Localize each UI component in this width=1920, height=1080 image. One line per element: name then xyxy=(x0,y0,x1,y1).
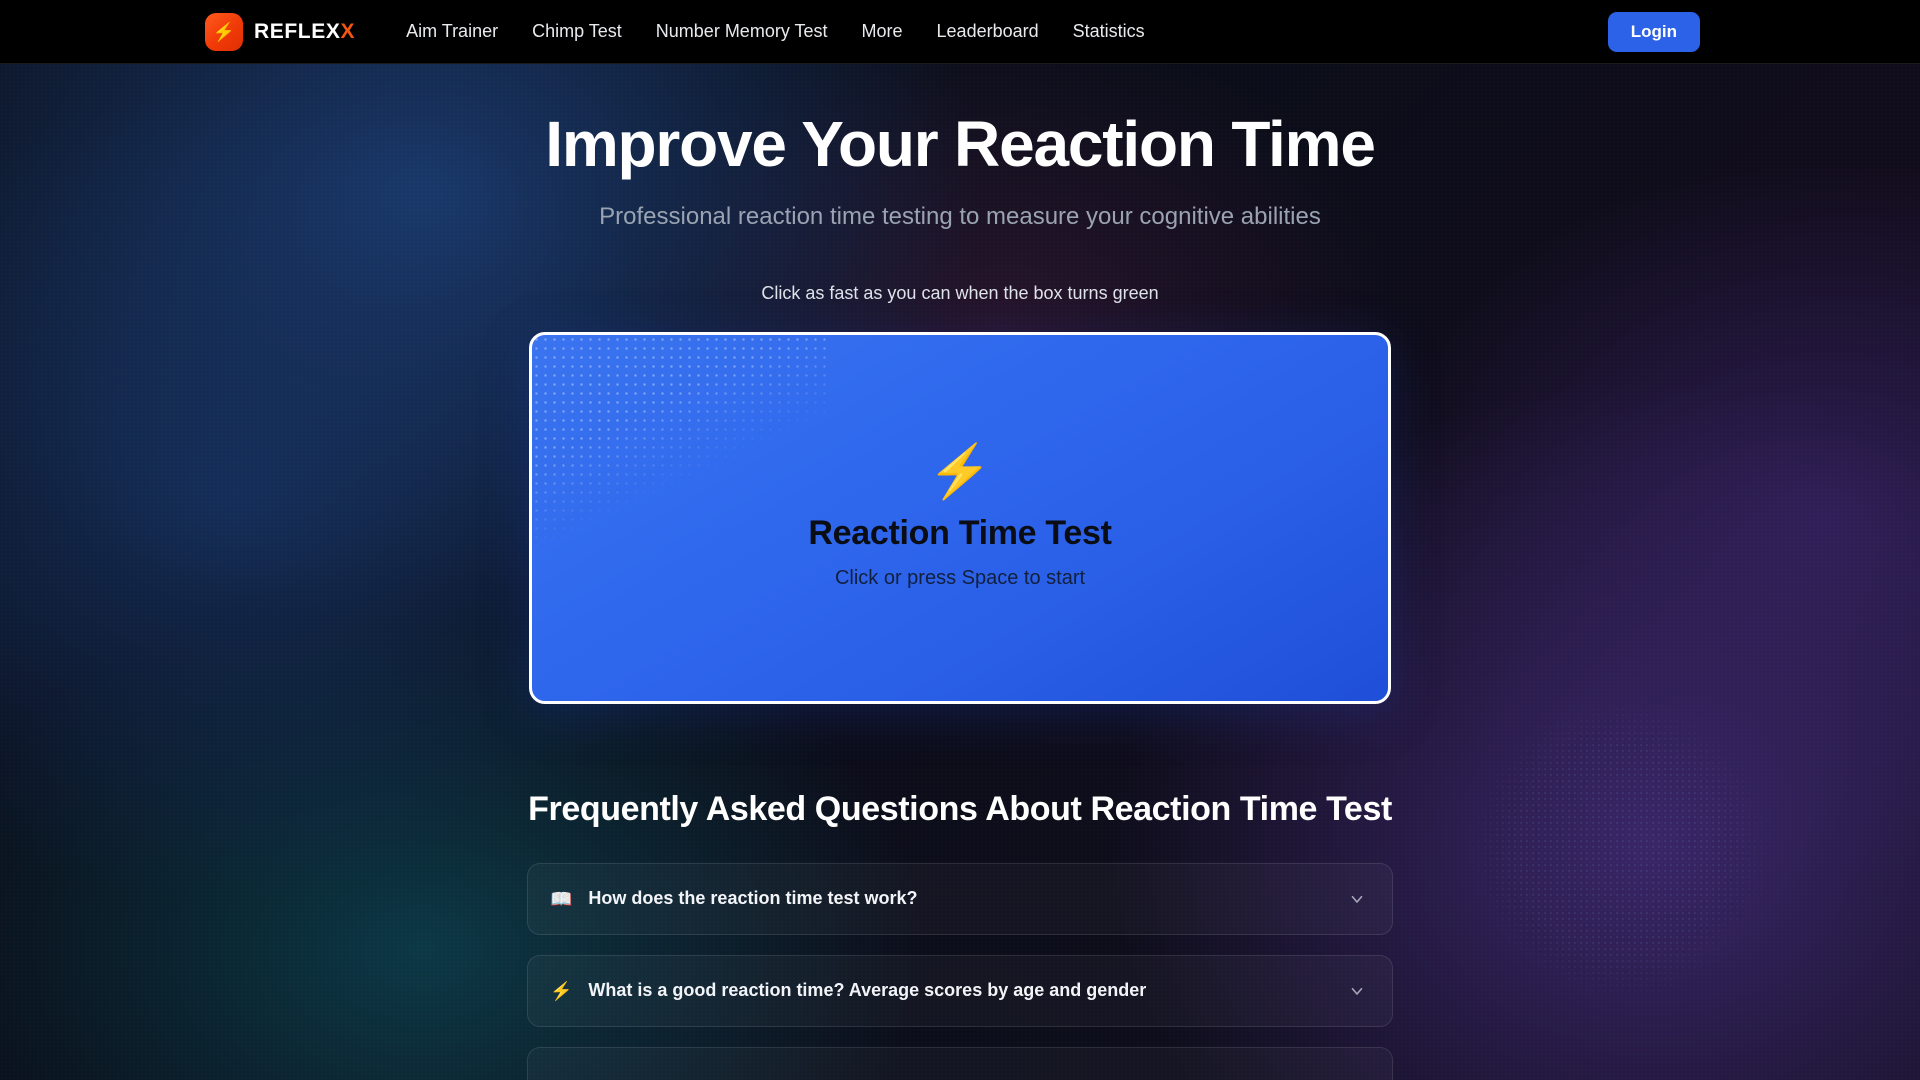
lightning-bolt-icon: ⚡ xyxy=(928,446,993,498)
nav-link-chimp-test[interactable]: Chimp Test xyxy=(515,13,639,50)
hero-section: Improve Your Reaction Time Professional … xyxy=(0,64,1920,231)
faq-heading: Frequently Asked Questions About Reactio… xyxy=(0,790,1920,829)
test-instruction-text: Click as fast as you can when the box tu… xyxy=(0,283,1920,304)
faq-question: How does the reaction time test work? xyxy=(588,888,1348,909)
nav-links: Aim Trainer Chimp Test Number Memory Tes… xyxy=(389,13,1162,50)
nav-link-number-memory-test[interactable]: Number Memory Test xyxy=(639,13,845,50)
page-root: ⚡ REFLEXX Aim Trainer Chimp Test Number … xyxy=(0,0,1920,1080)
reaction-test-section: Click as fast as you can when the box tu… xyxy=(0,283,1920,704)
main-content: Improve Your Reaction Time Professional … xyxy=(0,64,1920,1080)
faq-item-good-reaction-time[interactable]: ⚡ What is a good reaction time? Average … xyxy=(527,955,1393,1027)
faq-item-how-it-works[interactable]: 📖 How does the reaction time test work? xyxy=(527,863,1393,935)
open-book-icon: 📖 xyxy=(550,890,572,908)
page-title: Improve Your Reaction Time xyxy=(0,109,1920,181)
faq-question: What is a good reaction time? Average sc… xyxy=(588,980,1348,1001)
navbar: ⚡ REFLEXX Aim Trainer Chimp Test Number … xyxy=(0,0,1920,64)
reaction-test-box[interactable]: ⚡ Reaction Time Test Click or press Spac… xyxy=(529,332,1391,704)
nav-link-statistics[interactable]: Statistics xyxy=(1056,13,1162,50)
chevron-down-icon[interactable] xyxy=(1348,890,1366,908)
nav-link-more[interactable]: More xyxy=(845,13,920,50)
navbar-inner: ⚡ REFLEXX Aim Trainer Chimp Test Number … xyxy=(0,0,1920,63)
brand-logo[interactable]: ⚡ REFLEXX xyxy=(205,13,355,51)
brand-name-accent: X xyxy=(340,20,355,43)
nav-link-leaderboard[interactable]: Leaderboard xyxy=(920,13,1056,50)
login-button[interactable]: Login xyxy=(1608,12,1700,52)
brand-name-main: REFLEX xyxy=(254,20,340,43)
lightning-bolt-icon: ⚡ xyxy=(550,982,572,1000)
chevron-down-icon[interactable] xyxy=(1348,982,1366,1000)
test-box-dot-pattern xyxy=(532,335,832,565)
nav-link-aim-trainer[interactable]: Aim Trainer xyxy=(389,13,515,50)
faq-item-partial[interactable] xyxy=(527,1047,1393,1080)
brand-name: REFLEXX xyxy=(254,20,355,44)
page-subtitle: Professional reaction time testing to me… xyxy=(0,203,1920,231)
faq-list: 📖 How does the reaction time test work? … xyxy=(527,863,1393,1080)
lightning-bolt-icon: ⚡ xyxy=(205,13,243,51)
test-box-title: Reaction Time Test xyxy=(808,514,1111,553)
faq-section: Frequently Asked Questions About Reactio… xyxy=(0,790,1920,1080)
test-box-cta: Click or press Space to start xyxy=(835,567,1085,590)
